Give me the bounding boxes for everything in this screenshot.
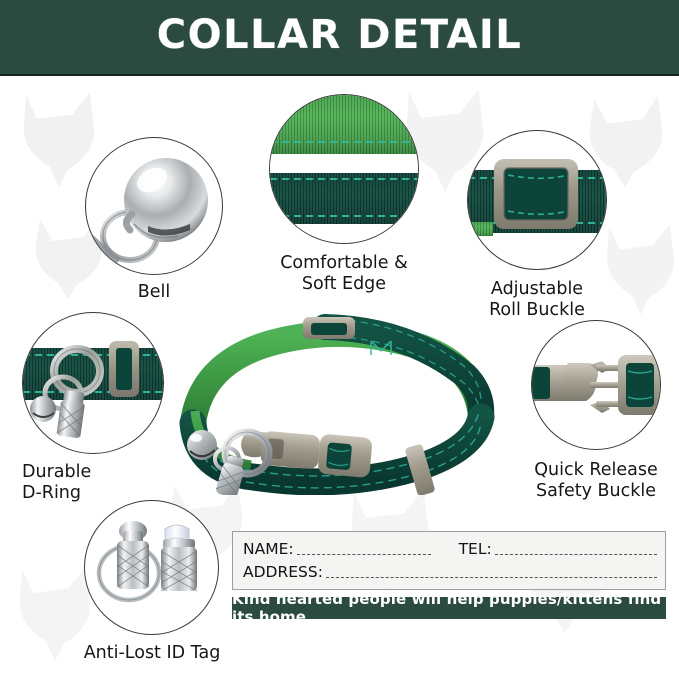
callout-d-ring: Durable D-Ring	[22, 312, 182, 505]
id-card-label-name: NAME:	[243, 540, 294, 558]
roll-buckle-icon	[468, 131, 606, 269]
callout-soft-edge: Comfortable & Soft Edge	[261, 94, 427, 296]
id-card-row-name: NAME: TEL:	[243, 540, 657, 558]
bell-photo-circle	[85, 137, 223, 275]
quick-release-photo-circle	[531, 320, 661, 450]
infographic-page: COLLAR DETAIL	[0, 0, 679, 679]
d-ring-photo-circle	[22, 312, 164, 454]
callout-label-id-tag: Anti-Lost ID Tag	[62, 643, 242, 664]
id-card-input-name[interactable]	[297, 553, 431, 555]
header-divider	[0, 74, 679, 76]
bell-icon	[86, 138, 222, 274]
quick-release-buckle-icon	[532, 321, 660, 449]
id-card-input-tel[interactable]	[495, 553, 657, 555]
page-title: COLLAR DETAIL	[0, 0, 679, 74]
id-card-label-tel: TEL:	[459, 540, 492, 558]
callout-label-d-ring: Durable D-Ring	[22, 462, 182, 505]
id-card-input-address[interactable]	[326, 576, 657, 578]
id-card: NAME: TEL: ADDRESS:	[232, 531, 666, 590]
callout-id-tag: Anti-Lost ID Tag	[62, 500, 242, 664]
callout-quick-release: Quick Release Safety Buckle	[513, 320, 679, 503]
id-tag-photo-circle	[84, 500, 219, 635]
id-card-row-address: ADDRESS:	[243, 563, 657, 581]
id-card-banner: Kind hearted people will help puppies/ki…	[232, 597, 666, 619]
id-tag-icon	[85, 501, 218, 634]
webbing-edge-icon	[270, 95, 418, 243]
id-card-label-address: ADDRESS:	[243, 563, 323, 581]
product-collar-image	[175, 305, 495, 495]
callout-label-bell: Bell	[85, 282, 223, 303]
callout-roll-buckle: Adjustable Roll Buckle	[453, 130, 621, 322]
soft-edge-photo-circle	[269, 94, 419, 244]
roll-buckle-photo-circle	[467, 130, 607, 270]
d-ring-icon	[23, 313, 163, 453]
callout-label-soft-edge: Comfortable & Soft Edge	[261, 253, 427, 296]
callout-label-quick-release: Quick Release Safety Buckle	[513, 460, 679, 503]
callout-bell: Bell	[85, 137, 225, 303]
